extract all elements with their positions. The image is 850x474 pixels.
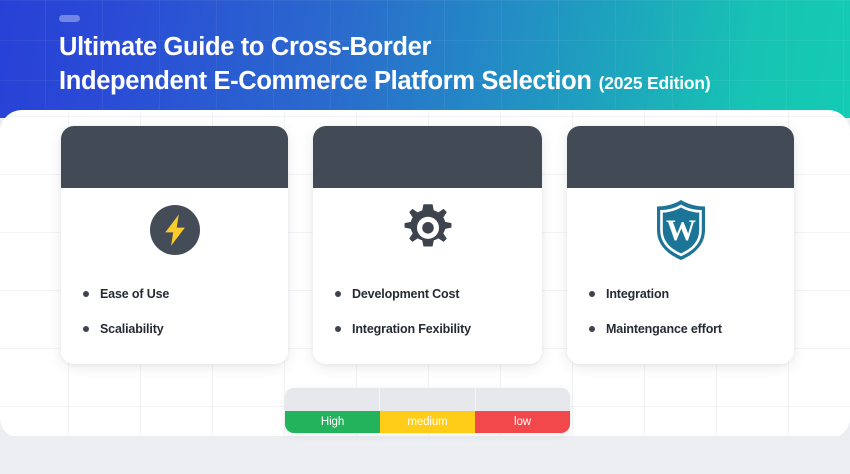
list-item-label: Integration Fexibility <box>352 322 471 336</box>
bullet-dot-icon <box>83 326 89 332</box>
list-item: Maintengance effort <box>589 311 794 346</box>
card-header-band <box>61 126 288 188</box>
gear-icon <box>400 202 456 263</box>
list-item: Scaliability <box>83 311 288 346</box>
list-item-label: Ease of Use <box>100 287 169 301</box>
card-icon-area: W <box>567 188 794 276</box>
list-item: Development Cost <box>335 276 542 311</box>
legend-segment-high[interactable]: High <box>285 411 380 433</box>
infographic-canvas: Ultimate Guide to Cross-Border Independe… <box>0 0 850 474</box>
criteria-card-integration[interactable]: W Integration Maintengance effort <box>567 126 794 364</box>
card-body: Ease of Use Scaliability <box>61 188 288 364</box>
title-line-2: Independent E-Commerce Platform Selectio… <box>59 64 592 98</box>
list-item: Integration <box>589 276 794 311</box>
lightning-bolt-icon <box>149 204 201 261</box>
legend-segment-label: medium <box>407 416 447 428</box>
card-bullet-list: Development Cost Integration Fexibility <box>313 276 542 346</box>
legend-top-cell <box>285 388 380 411</box>
list-item: Integration Fexibility <box>335 311 542 346</box>
card-body: W Integration Maintengance effort <box>567 188 794 364</box>
list-item-label: Development Cost <box>352 287 459 301</box>
legend-segment-label: low <box>514 416 531 428</box>
bullet-dot-icon <box>589 291 595 297</box>
legend-segment-medium[interactable]: medium <box>380 411 475 433</box>
svg-text:W: W <box>666 214 696 247</box>
legend-top-cell <box>380 388 475 411</box>
edition-label: (2025 Edition) <box>599 66 711 100</box>
list-item: Ease of Use <box>83 276 288 311</box>
page-title: Ultimate Guide to Cross-Border Independe… <box>59 30 819 100</box>
card-header-band <box>567 126 794 188</box>
list-item-label: Scaliability <box>100 322 164 336</box>
rating-legend: High medium low <box>285 388 570 433</box>
list-item-label: Integration <box>606 287 669 301</box>
card-icon-area <box>313 188 542 276</box>
bullet-dot-icon <box>335 291 341 297</box>
card-bullet-list: Ease of Use Scaliability <box>61 276 288 346</box>
criteria-card-ease-of-use[interactable]: Ease of Use Scaliability <box>61 126 288 364</box>
criteria-card-development-cost[interactable]: Development Cost Integration Fexibility <box>313 126 542 364</box>
bullet-dot-icon <box>335 326 341 332</box>
legend-top-row <box>285 388 570 411</box>
card-body: Development Cost Integration Fexibility <box>313 188 542 364</box>
bullet-dot-icon <box>589 326 595 332</box>
legend-segment-low[interactable]: low <box>475 411 570 433</box>
list-item-label: Maintengance effort <box>606 322 722 336</box>
title-line-1: Ultimate Guide to Cross-Border <box>59 30 819 64</box>
card-header-band <box>313 126 542 188</box>
accent-pill-marker <box>59 15 80 22</box>
card-icon-area <box>61 188 288 276</box>
shield-w-icon: W <box>653 199 709 266</box>
legend-color-bar: High medium low <box>285 411 570 433</box>
cards-row: Ease of Use Scaliability <box>0 126 850 366</box>
legend-segment-label: High <box>321 416 344 428</box>
legend-top-cell <box>476 388 570 411</box>
footer-strip <box>0 436 850 474</box>
card-bullet-list: Integration Maintengance effort <box>567 276 794 346</box>
bullet-dot-icon <box>83 291 89 297</box>
header-banner: Ultimate Guide to Cross-Border Independe… <box>0 0 850 118</box>
